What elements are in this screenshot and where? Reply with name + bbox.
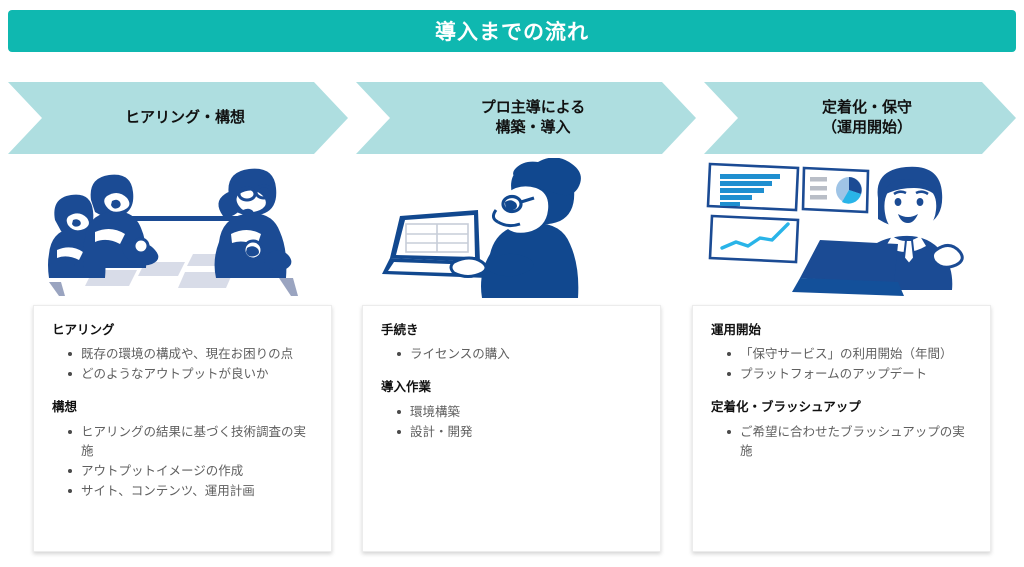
card-2-section-2-list: 環境構築 設計・開発 [381,403,646,442]
card-2-section-2-heading: 導入作業 [381,379,646,395]
card-1-section-1-list: 既存の環境の構成や、現在お困りの点 どのようなアウトプットが良いか [52,345,317,384]
page-title: 導入までの流れ [435,16,589,46]
process-step-1: ヒアリング・構想 [8,82,348,154]
process-step-2: プロ主導による 構築・導入 [356,82,696,154]
laptop-work-illustration [362,158,661,298]
header-banner: 導入までの流れ [8,10,1016,52]
process-step-3: 定着化・保守 （運用開始） [704,82,1016,154]
dashboard-success-illustration [692,158,991,298]
process-step-1-label: ヒアリング・構想 [111,108,245,128]
card-3-section-1-heading: 運用開始 [711,322,976,338]
detail-card-1: ヒアリング 既存の環境の構成や、現在お困りの点 どのようなアウトプットが良いか … [33,305,332,552]
bar-chart-panel [708,164,798,210]
list-item: 既存の環境の構成や、現在お困りの点 [68,345,317,364]
card-1-section-2-list: ヒアリングの結果に基づく技術調査の実施 アウトプットイメージの作成 サイト、コン… [52,423,317,501]
detail-card-2: 手続き ライセンスの購入 導入作業 環境構築 設計・開発 [362,305,661,552]
list-item: 環境構築 [397,403,646,422]
card-1-section-1-heading: ヒアリング [52,322,317,338]
card-3-section-1-list: 「保守サービス」の利用開始（年間） プラットフォームのアップデート [711,345,976,384]
list-item: サイト、コンテンツ、運用計画 [68,482,317,501]
list-item: ご希望に合わせたブラッシュアップの実施 [727,423,976,461]
list-item: 設計・開発 [397,423,646,442]
process-step-2-label: プロ主導による 構築・導入 [467,98,586,139]
card-3-section-2-heading: 定着化・ブラッシュアップ [711,399,976,415]
card-2-section-1-heading: 手続き [381,322,646,338]
list-item: ライセンスの購入 [397,345,646,364]
process-step-row: ヒアリング・構想 プロ主導による 構築・導入 定着化・保守 （運用開始） [8,82,1016,154]
detail-card-3: 運用開始 「保守サービス」の利用開始（年間） プラットフォームのアップデート 定… [692,305,991,552]
line-chart-panel [710,216,798,262]
list-item: ヒアリングの結果に基づく技術調査の実施 [68,423,317,461]
list-item: アウトプットイメージの作成 [68,462,317,481]
list-item: プラットフォームのアップデート [727,365,976,384]
card-3-section-2-list: ご希望に合わせたブラッシュアップの実施 [711,423,976,461]
card-2-section-1-list: ライセンスの購入 [381,345,646,364]
pie-chart-panel [803,168,868,212]
card-1-section-2-heading: 構想 [52,399,317,415]
list-item: 「保守サービス」の利用開始（年間） [727,345,976,364]
process-step-3-label: 定着化・保守 （運用開始） [808,98,912,139]
list-item: どのようなアウトプットが良いか [68,365,317,384]
meeting-hearing-illustration [33,158,332,298]
